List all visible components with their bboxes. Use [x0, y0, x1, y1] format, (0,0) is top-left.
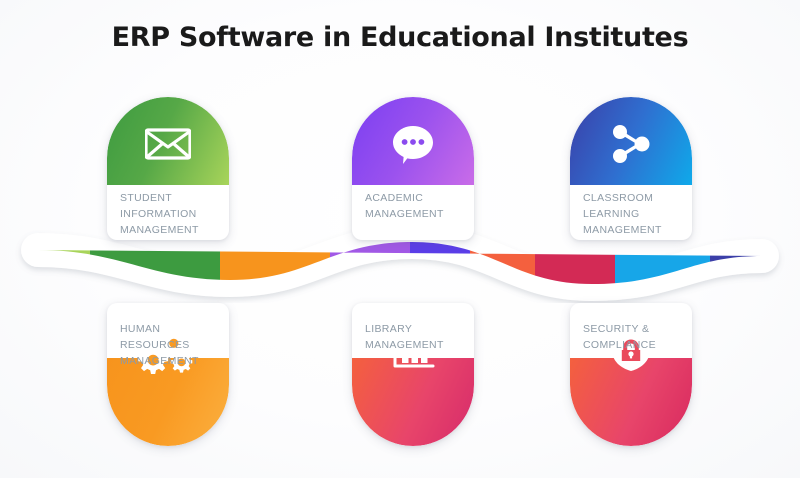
- infographic-canvas: ERP Software in Educational Institutes: [0, 0, 800, 478]
- card-student-label-line-3: MANAGEMENT: [120, 222, 216, 238]
- card-academic-label: ACADEMIC MANAGEMENT: [352, 190, 474, 222]
- card-academic-label-line-2: MANAGEMENT: [365, 206, 461, 222]
- share-nodes-icon: [570, 105, 692, 183]
- card-student-label-line-2: INFORMATION: [120, 206, 216, 222]
- card-hr-label-line-1: HUMAN: [120, 321, 216, 337]
- card-student-label: STUDENT INFORMATION MANAGEMENT: [107, 190, 229, 238]
- card-classroom-label: CLASSROOM LEARNING MANAGEMENT: [570, 190, 692, 238]
- card-hr-label-line-2: RESOURCES: [120, 337, 216, 353]
- card-security-label: SECURITY & COMPLIANCE: [570, 321, 692, 353]
- card-library-label: LIBRARY MANAGEMENT: [352, 321, 474, 353]
- card-security-label-line-1: SECURITY &: [583, 321, 679, 337]
- card-human-resources-management[interactable]: HUMAN RESOURCES MANAGEMENT: [107, 303, 229, 446]
- card-classroom-label-line-1: CLASSROOM: [583, 190, 679, 206]
- page-title: ERP Software in Educational Institutes: [0, 22, 800, 53]
- card-student-label-line-1: STUDENT: [120, 190, 216, 206]
- card-academic-label-line-1: ACADEMIC: [365, 190, 461, 206]
- card-library-label-line-2: MANAGEMENT: [365, 337, 461, 353]
- card-library-management[interactable]: LIBRARY MANAGEMENT: [352, 303, 474, 446]
- speech-bubble-icon: [352, 105, 474, 183]
- card-security-compliance[interactable]: SECURITY & COMPLIANCE: [570, 303, 692, 446]
- card-hr-label: HUMAN RESOURCES MANAGEMENT: [107, 321, 229, 369]
- card-classroom-label-line-3: MANAGEMENT: [583, 222, 679, 238]
- card-security-label-line-2: COMPLIANCE: [583, 337, 679, 353]
- card-student-information-management[interactable]: STUDENT INFORMATION MANAGEMENT: [107, 97, 229, 240]
- card-classroom-learning-management[interactable]: CLASSROOM LEARNING MANAGEMENT: [570, 97, 692, 240]
- card-classroom-label-line-2: LEARNING: [583, 206, 679, 222]
- card-hr-label-line-3: MANAGEMENT: [120, 353, 216, 369]
- envelope-icon: [107, 105, 229, 183]
- card-academic-management[interactable]: ACADEMIC MANAGEMENT: [352, 97, 474, 240]
- card-library-label-line-1: LIBRARY: [365, 321, 461, 337]
